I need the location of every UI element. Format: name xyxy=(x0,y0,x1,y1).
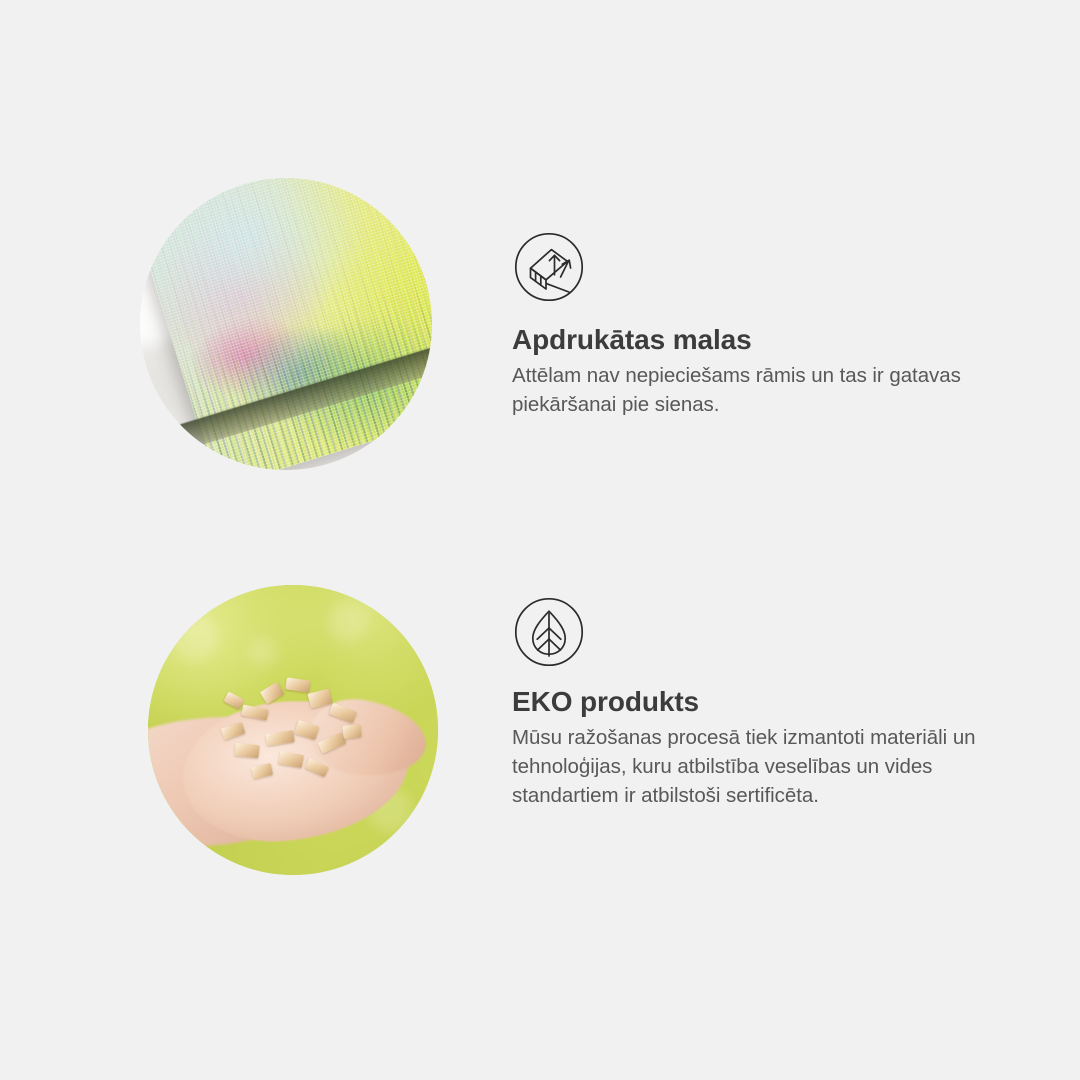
feature-panel: Apdrukātas malas Attēlam nav nepieciešam… xyxy=(0,0,1080,1080)
feature-description-eco: Mūsu ražošanas procesā tiek izmantoti ma… xyxy=(512,723,1012,810)
wood-chip xyxy=(260,682,284,704)
wood-chip xyxy=(235,743,260,758)
wood-chip xyxy=(278,751,304,768)
wood-chip xyxy=(308,688,333,708)
bokeh-spot xyxy=(171,614,219,662)
feature-description-printed-edges: Attēlam nav nepieciešams rāmis un tas ir… xyxy=(512,361,1012,419)
feature-title-eco: EKO produkts xyxy=(512,684,1012,719)
leaf-icon xyxy=(513,596,585,668)
wood-chip xyxy=(294,720,319,740)
wood-chip xyxy=(328,702,357,723)
wood-chip xyxy=(342,724,361,739)
bokeh-spot xyxy=(328,602,368,642)
wood-chip xyxy=(305,758,330,778)
wood-chip xyxy=(285,677,310,692)
wood-chip xyxy=(221,722,246,740)
wood-chip xyxy=(241,704,269,720)
canvas-corner-photo xyxy=(140,178,432,470)
wood-chip xyxy=(224,692,245,710)
feature-text-eco: EKO produkts Mūsu ražošanas procesā tiek… xyxy=(512,684,1012,810)
wood-chip xyxy=(251,763,273,779)
wood-chip-pile xyxy=(212,672,380,788)
feature-title-printed-edges: Apdrukātas malas xyxy=(512,322,1012,357)
wood-chip xyxy=(265,730,294,746)
printed-edges-icon xyxy=(513,231,585,303)
feature-text-printed-edges: Apdrukātas malas Attēlam nav nepieciešam… xyxy=(512,322,1012,419)
bokeh-spot xyxy=(247,637,277,667)
wood-chips-in-hands-photo xyxy=(148,585,438,875)
